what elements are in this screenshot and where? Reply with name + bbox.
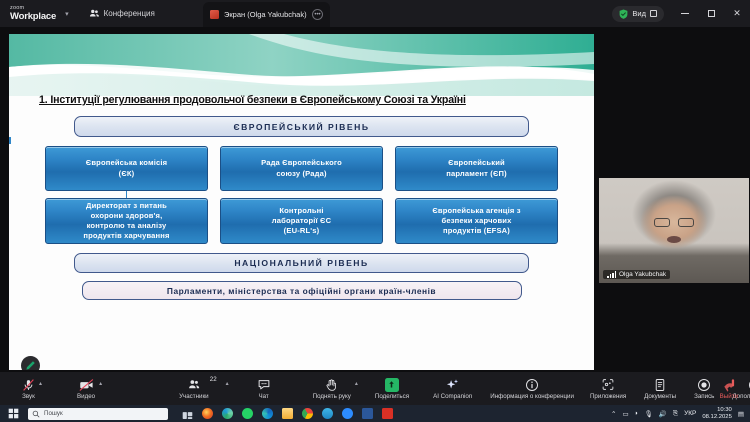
box-efsa: Європейська агенція збезпеки харчовихпро… [395, 198, 558, 244]
annotate-button[interactable] [21, 356, 40, 370]
zoom-shared-screen-window: zoom Workplace ▾ Конференция Экран (Olga… [0, 0, 750, 422]
chevron-down-icon[interactable]: ▾ [65, 10, 69, 18]
documents-button[interactable]: Документы [644, 372, 676, 405]
chat-button[interactable]: Чат [257, 372, 271, 405]
record-button[interactable]: Запись [694, 372, 714, 405]
raise-hand-button-label: Поднять руку [313, 393, 351, 400]
word-icon[interactable] [362, 408, 373, 419]
apps-icon [601, 378, 615, 392]
video-options-chevron-icon[interactable]: ▴ [99, 380, 102, 387]
participant-name-badge: Olga Yakubchak [603, 270, 670, 279]
wifi-icon[interactable]: ◗ [635, 410, 639, 417]
window-controls: Вид ✕ [612, 0, 750, 27]
raise-hand-icon [325, 378, 338, 392]
search-input[interactable]: Пошук [28, 408, 168, 420]
notifications-icon[interactable]: ▤ [738, 410, 744, 418]
wps-icon[interactable] [382, 408, 393, 419]
people-icon [89, 8, 100, 19]
maximize-icon[interactable] [698, 0, 724, 27]
participants-options-chevron-icon[interactable]: ▴ [226, 380, 229, 387]
view-button[interactable]: Вид [612, 6, 664, 22]
diagram: ЄВРОПЕЙСЬКИЙ РІВЕНЬ Європейська комісія(… [9, 116, 594, 300]
record-button-label: Запись [694, 393, 714, 400]
ai-companion-button[interactable]: AI Companion [433, 372, 472, 405]
minimize-icon[interactable] [672, 0, 698, 27]
participants-count: 22 [210, 376, 217, 383]
system-tray: ⌃ ▭ ◗ 🎙 🔊 ⎘ УКР 10:30 08.12.2025 ▤ [611, 405, 744, 422]
share-screen-button-label: Поделиться [375, 393, 409, 400]
box-european-commission: Європейська комісія(ЄК) [45, 146, 208, 191]
documents-icon [654, 378, 666, 392]
band-national-level: НАЦІОНАЛЬНИЙ РІВЕНЬ [74, 253, 529, 273]
task-view-icon[interactable] [182, 408, 193, 419]
clock-date: 08.12.2025 [702, 414, 731, 421]
search-icon [32, 410, 40, 418]
usb-icon[interactable]: ⎘ [673, 410, 678, 418]
info-icon [525, 378, 539, 392]
participants-button-label: Участники [179, 393, 209, 400]
documents-button-label: Документы [644, 393, 676, 400]
edge-icon[interactable] [262, 408, 273, 419]
record-icon [697, 378, 711, 392]
audio-button-label: Звук [22, 393, 35, 400]
meeting-tab[interactable]: Конференция [89, 8, 155, 19]
copilot-icon[interactable] [222, 408, 233, 419]
participants-icon [187, 378, 201, 392]
clock-time: 10:30 [717, 407, 732, 414]
screen-share-tab-label: Экран (Olga Yakubchak) [224, 10, 307, 19]
taskbar-app-icons [182, 408, 393, 419]
language-indicator[interactable]: УКР [684, 410, 696, 417]
pen-icon [25, 360, 36, 370]
slide-banner-decoration [9, 34, 594, 96]
windows-taskbar: Пошук ⌃ ▭ ◗ 🎙 [0, 405, 750, 422]
meeting-info-button[interactable]: Информация о конференции [490, 372, 574, 405]
chat-icon [257, 378, 271, 392]
screen-share-tab-icon [210, 10, 219, 19]
shared-screen-stage: 1. Інституції регулювання продовольчої б… [0, 27, 750, 372]
participant-video-thumbnail[interactable]: Olga Yakubchak [599, 178, 749, 283]
apps-button[interactable]: Приложения [590, 372, 626, 405]
zoom-meeting-toolbar: Звук ▴ Видео ▴ [0, 372, 750, 405]
chrome-icon[interactable] [302, 408, 313, 419]
raise-hand-button[interactable]: Поднять руку ▴ [313, 372, 351, 405]
battery-icon[interactable]: ▭ [622, 410, 628, 418]
view-layout-icon [650, 10, 657, 17]
participant-name: Olga Yakubchak [619, 271, 666, 278]
eyeglasses [654, 218, 694, 227]
chevron-up-icon[interactable]: ⌃ [611, 410, 616, 418]
mouth [667, 236, 681, 243]
windows-start-icon[interactable] [0, 408, 26, 419]
chat-button-label: Чат [259, 393, 269, 400]
volume-icon[interactable]: 🔊 [659, 410, 667, 418]
diagram-row-2: Директорат з питаньохорони здоров'я,конт… [9, 198, 594, 244]
band-european-level: ЄВРОПЕЙСЬКИЙ РІВЕНЬ [74, 116, 529, 137]
diagram-row-1: Європейська комісія(ЄК) Рада Європейсько… [9, 146, 594, 191]
audio-options-chevron-icon[interactable]: ▴ [39, 380, 42, 387]
view-button-label: Вид [632, 9, 646, 18]
presentation-slide: 1. Інституції регулювання продовольчої б… [9, 34, 594, 370]
clock[interactable]: 10:30 08.12.2025 [702, 407, 731, 421]
shield-check-icon [619, 9, 628, 19]
close-icon[interactable]: ✕ [724, 0, 750, 27]
whatsapp-icon[interactable] [242, 408, 253, 419]
zoom-logo: zoom Workplace [10, 6, 56, 21]
file-explorer-icon[interactable] [282, 408, 293, 419]
box-european-parliament: Європейськийпарламент (ЄП) [395, 146, 558, 191]
box-eu-reference-labs: Контрольнілабораторії ЄС(EU-RL's) [220, 198, 383, 244]
telegram-icon[interactable] [322, 408, 333, 419]
camera-muted-icon [79, 378, 94, 392]
search-placeholder: Пошук [44, 410, 63, 417]
microphone-muted-icon [22, 378, 35, 392]
leave-meeting-button[interactable]: Выйти [720, 372, 738, 405]
video-button-label: Видео [77, 393, 95, 400]
microphone-icon[interactable]: 🎙 [645, 410, 653, 418]
zoom-title-bar: zoom Workplace ▾ Конференция Экран (Olga… [0, 0, 750, 27]
share-screen-button[interactable]: Поделиться [375, 372, 409, 405]
video-button[interactable]: Видео ▴ [77, 372, 95, 405]
signal-bars-icon [607, 271, 616, 278]
ai-companion-button-label: AI Companion [433, 393, 472, 400]
box-council-of-eu: Рада Європейськогосоюзу (Рада) [220, 146, 383, 191]
apps-button-label: Приложения [590, 393, 626, 400]
zoom-logo-bottom: Workplace [10, 12, 56, 22]
slide-title: 1. Інституції регулювання продовольчої б… [39, 94, 584, 106]
band-parliaments-ministries: Парламенти, міністерства та офіційні орг… [82, 281, 522, 300]
ai-sparkle-icon [445, 378, 460, 392]
reactions-chevron-icon[interactable]: ▴ [355, 380, 358, 387]
audio-button[interactable]: Звук ▴ [22, 372, 35, 405]
zoom-icon[interactable] [342, 408, 353, 419]
participant-video-image [599, 178, 749, 283]
leave-meeting-label: Выйти [720, 393, 738, 400]
box-directorate-health: Директорат з питаньохорони здоров'я,конт… [45, 198, 208, 244]
leave-meeting-icon [721, 378, 736, 392]
firefox-icon[interactable] [202, 408, 213, 419]
screen-share-tab[interactable]: Экран (Olga Yakubchak) ••• [203, 2, 330, 27]
meeting-tab-label: Конференция [104, 9, 155, 18]
meeting-info-button-label: Информация о конференции [490, 393, 574, 400]
more-horizontal-icon[interactable]: ••• [312, 9, 323, 20]
share-screen-icon [385, 378, 399, 392]
participants-button[interactable]: 22 Участники ▴ [179, 372, 209, 405]
